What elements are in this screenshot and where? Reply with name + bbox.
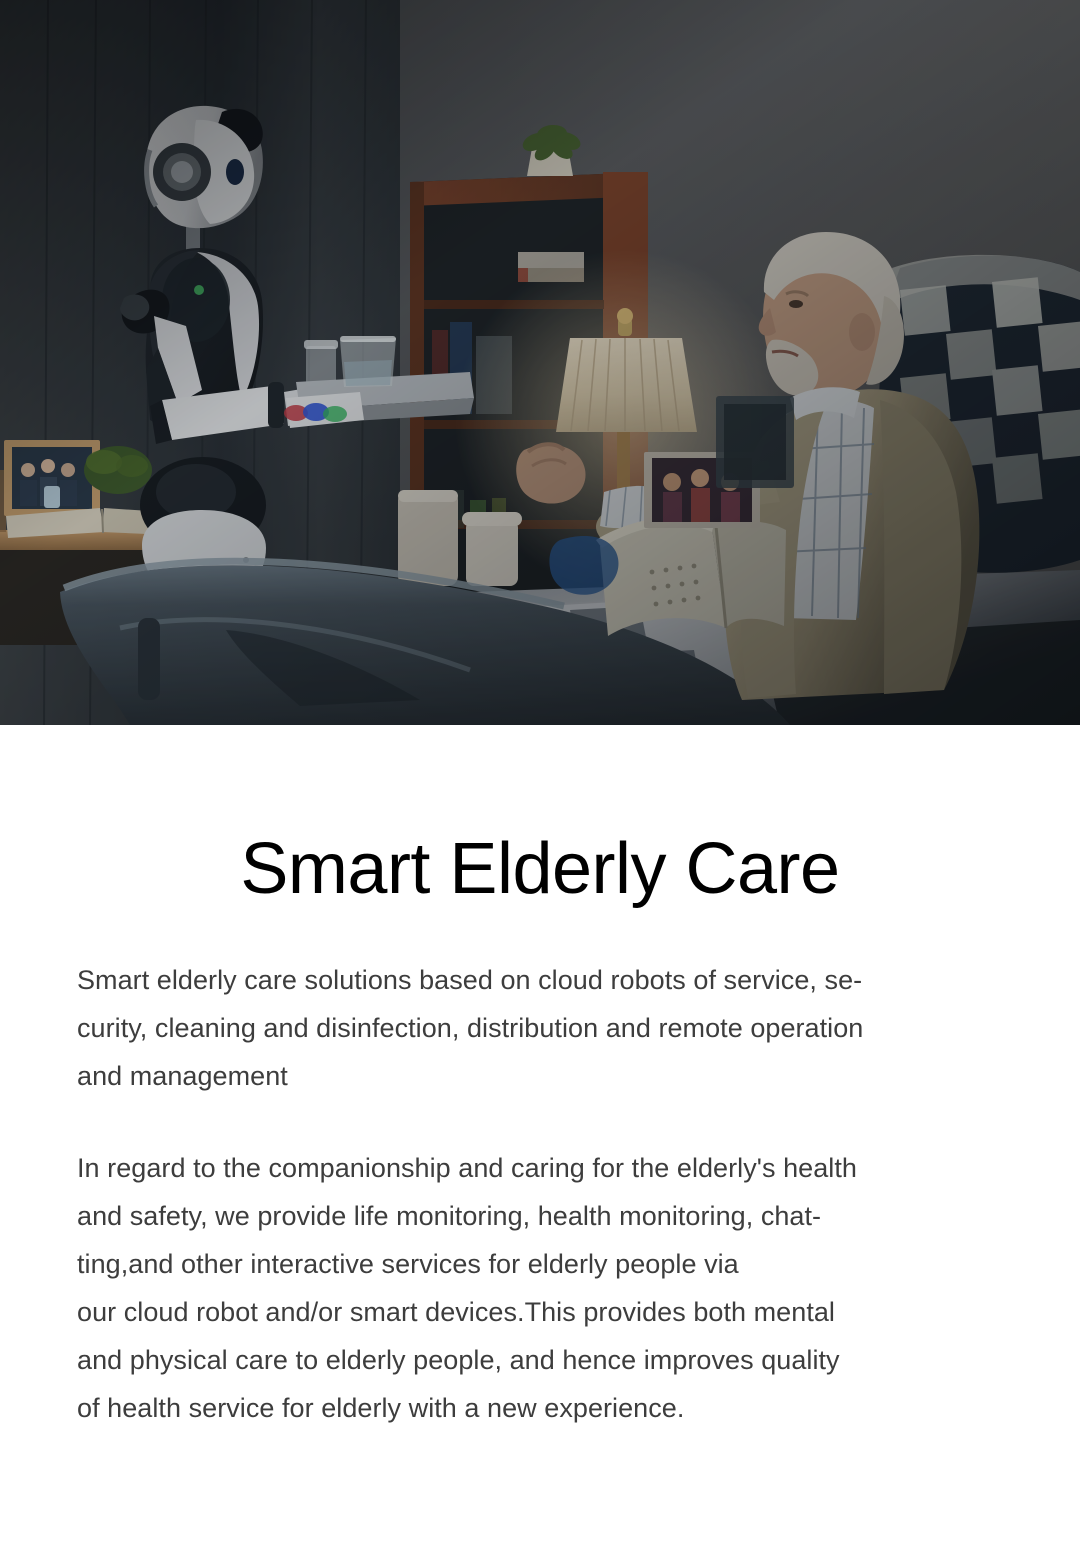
content-section: Smart Elderly Care Smart elderly care so… [0, 725, 1080, 1432]
paragraph-details-line-5: and physical care to elderly people, and… [77, 1336, 1005, 1384]
page-title: Smart Elderly Care [0, 725, 1080, 905]
night-tint [0, 0, 1080, 725]
paragraph-details-line-4: our cloud robot and/or smart devices.Thi… [77, 1288, 1005, 1336]
hero-image [0, 0, 1080, 725]
hero-illustration [0, 0, 1080, 725]
body-copy: Smart elderly care solutions based on cl… [0, 956, 1080, 1432]
paragraph-details: In regard to the companionship and carin… [77, 1144, 1005, 1432]
paragraph-intro-line-3: and management [77, 1052, 1005, 1100]
paragraph-intro-line-2: curity, cleaning and disinfection, distr… [77, 1004, 1005, 1052]
paragraph-details-line-3: ting,and other interactive services for … [77, 1240, 1005, 1288]
paragraph-intro-line-1: Smart elderly care solutions based on cl… [77, 956, 1005, 1004]
paragraph-details-line-2: and safety, we provide life monitoring, … [77, 1192, 1005, 1240]
paragraph-details-line-6: of health service for elderly with a new… [77, 1384, 1005, 1432]
paragraph-details-line-1: In regard to the companionship and carin… [77, 1144, 1005, 1192]
paragraph-intro: Smart elderly care solutions based on cl… [77, 956, 1005, 1100]
